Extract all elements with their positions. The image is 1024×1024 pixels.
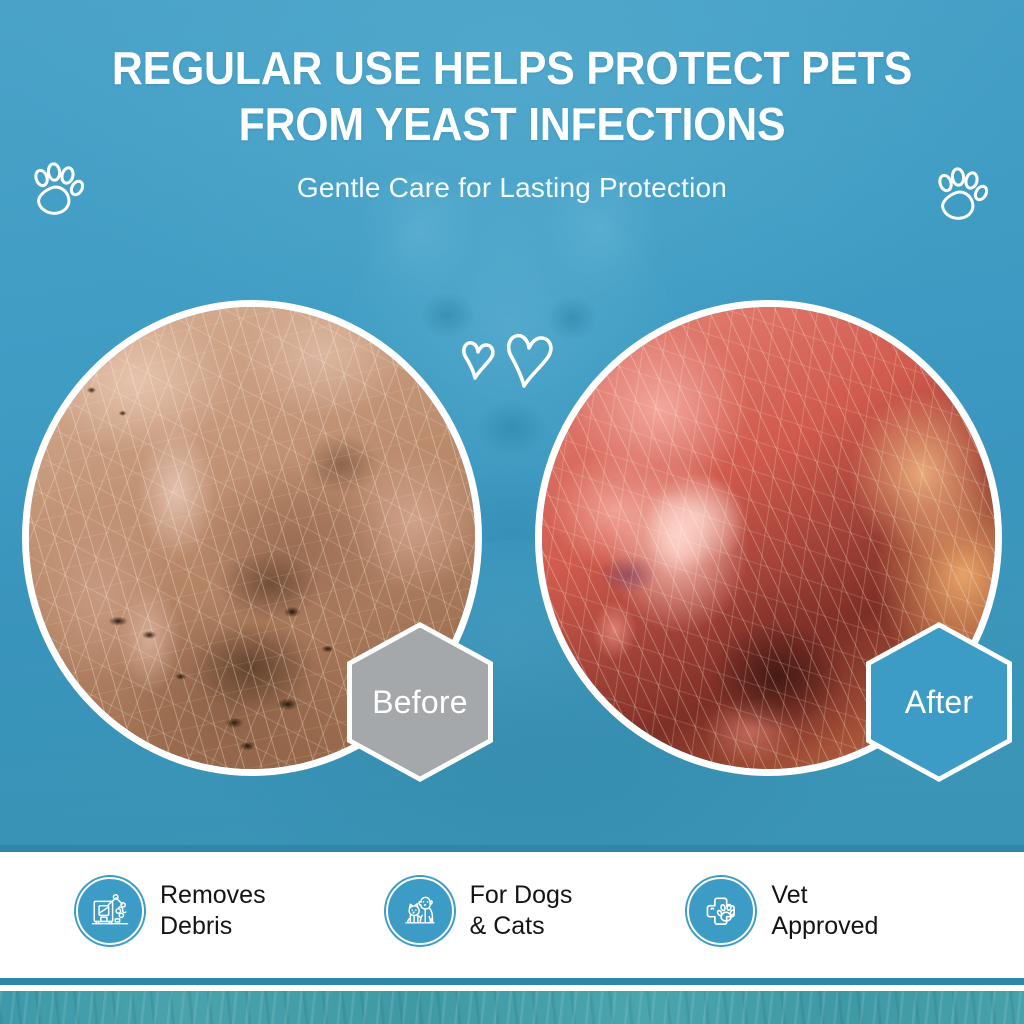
feature-label: For Dogs & Cats xyxy=(470,880,573,942)
product-infographic-poster: REGULAR USE HELPS PROTECT PETS FROM YEAS… xyxy=(0,0,1024,1024)
medical-cross-paw-icon xyxy=(687,877,755,945)
feature-label: Vet Approved xyxy=(771,880,878,942)
debris-removal-machine-icon xyxy=(76,877,144,945)
top-divider-rule xyxy=(0,845,1024,852)
before-badge-label: Before xyxy=(372,686,467,718)
bottom-divider-rule xyxy=(0,978,1024,985)
double-heart-icon xyxy=(455,330,570,400)
teal-fabric-strip xyxy=(0,991,1024,1024)
dog-and-cat-icon xyxy=(386,877,454,945)
headline-line-1: REGULAR USE HELPS PROTECT PETS xyxy=(112,42,912,94)
paw-print-icon xyxy=(28,160,86,220)
feature-item-for-dogs-and-cats: For Dogs & Cats xyxy=(386,877,573,945)
feature-item-vet-approved: Vet Approved xyxy=(687,877,878,945)
paw-print-icon xyxy=(932,165,990,225)
feature-label: Removes Debris xyxy=(160,880,266,942)
subtitle: Gentle Care for Lasting Protection xyxy=(0,172,1024,204)
white-gap-upper xyxy=(0,969,1024,978)
page-title: REGULAR USE HELPS PROTECT PETS FROM YEAS… xyxy=(36,40,988,152)
headline-line-2: FROM YEAST INFECTIONS xyxy=(36,96,988,152)
after-badge-label: After xyxy=(905,686,974,718)
feature-item-removes-debris: Removes Debris xyxy=(76,877,266,945)
feature-bar: Removes Debris xyxy=(0,852,1024,969)
